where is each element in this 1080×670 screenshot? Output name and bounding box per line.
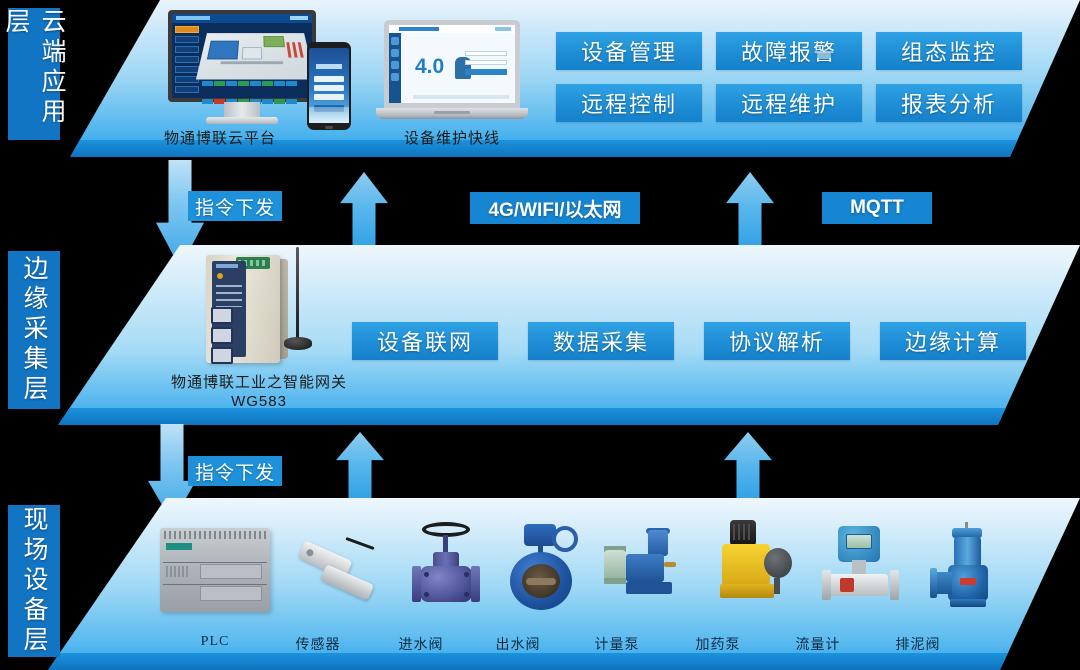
device-label-flow-meter: 流量计 <box>768 634 868 654</box>
arrow-field-to-edge-left <box>336 432 384 506</box>
gateway-antenna-base <box>284 337 312 350</box>
metering-pump-icon <box>604 528 692 612</box>
cloud-feature-chip-1[interactable]: 故障报警 <box>716 32 862 70</box>
butterfly-valve-icon <box>506 524 590 612</box>
monitor-stand <box>224 102 260 118</box>
phone-screen <box>309 48 349 123</box>
cloud-product-caption-1: 物通博联云平台 <box>140 130 300 149</box>
device-label-sensor: 传感器 <box>268 634 368 654</box>
gateway-body <box>206 255 280 363</box>
architecture-diagram: 云端应用层 <box>0 0 1080 670</box>
connector-tag-command-download-upper: 指令下发 <box>188 191 282 221</box>
sludge-valve-icon <box>930 522 1008 612</box>
cloud-feature-chip-4[interactable]: 远程维护 <box>716 84 862 122</box>
edge-feature-chip-2[interactable]: 协议解析 <box>704 322 850 360</box>
monitor-phone-icon <box>168 10 316 128</box>
laptop-base <box>376 108 528 119</box>
gateway-icon <box>196 243 316 373</box>
device-label-plc: PLC <box>165 634 265 650</box>
connector-tag-command-download-lower: 指令下发 <box>188 456 282 486</box>
gateway-antenna <box>296 247 299 339</box>
plc-icon <box>160 528 270 612</box>
sensor-icon <box>295 540 387 610</box>
edge-feature-chip-1[interactable]: 数据采集 <box>528 322 674 360</box>
dashboard-topbar <box>172 14 312 23</box>
phone-home-button <box>325 126 333 129</box>
edge-feature-chip-3[interactable]: 边缘计算 <box>880 322 1026 360</box>
arrow-edge-to-cloud-mqtt <box>726 172 774 254</box>
smartphone-icon <box>307 42 351 130</box>
device-label-sludge-valve: 排泥阀 <box>868 634 968 654</box>
laptop-icon: 4.0 <box>376 20 528 128</box>
connector-tag-mqtt: MQTT <box>822 192 932 224</box>
gate-valve-icon <box>408 522 484 612</box>
device-label-metering-pump: 计量泵 <box>567 634 667 654</box>
device-label-outlet-valve: 出水阀 <box>468 634 568 654</box>
gateway-port <box>211 307 233 324</box>
laptop-screen: 4.0 <box>389 25 515 103</box>
arrow-edge-to-cloud-network <box>340 172 388 254</box>
phone-body <box>307 42 351 130</box>
dosing-pump-icon <box>712 520 798 614</box>
dashboard-data-strip <box>202 73 309 95</box>
cloud-feature-chip-0[interactable]: 设备管理 <box>556 32 702 70</box>
layer-label-cloud: 云端应用层 <box>8 8 60 140</box>
arrow-field-to-edge-right <box>724 432 772 506</box>
cloud-product-caption-2: 设备维护快线 <box>372 130 532 149</box>
gateway-port <box>211 347 233 364</box>
slab-edge <box>48 653 1080 670</box>
monitor-base <box>206 117 278 124</box>
gateway-caption-name: 物通博联工业之智能网关 <box>143 374 375 393</box>
edge-feature-chip-0[interactable]: 设备联网 <box>352 322 498 360</box>
cloud-feature-chip-3[interactable]: 远程控制 <box>556 84 702 122</box>
device-label-dosing-pump: 加药泵 <box>668 634 768 654</box>
laptop-lid: 4.0 <box>384 20 520 108</box>
gateway-caption-model: WG583 <box>143 393 375 412</box>
layer-label-edge: 边缘采集层 <box>8 251 60 409</box>
device-label-inlet-valve: 进水阀 <box>371 634 471 654</box>
cloud-feature-chip-2[interactable]: 组态监控 <box>876 32 1022 70</box>
cloud-feature-chip-5[interactable]: 报表分析 <box>876 84 1022 122</box>
connector-tag-network: 4G/WIFI/以太网 <box>470 192 640 224</box>
layer-label-field: 现场设备层 <box>8 505 60 657</box>
dashboard-nav <box>175 26 199 95</box>
flow-meter-icon <box>822 526 904 612</box>
monitor-screen <box>168 10 316 102</box>
gateway-port <box>211 327 233 344</box>
